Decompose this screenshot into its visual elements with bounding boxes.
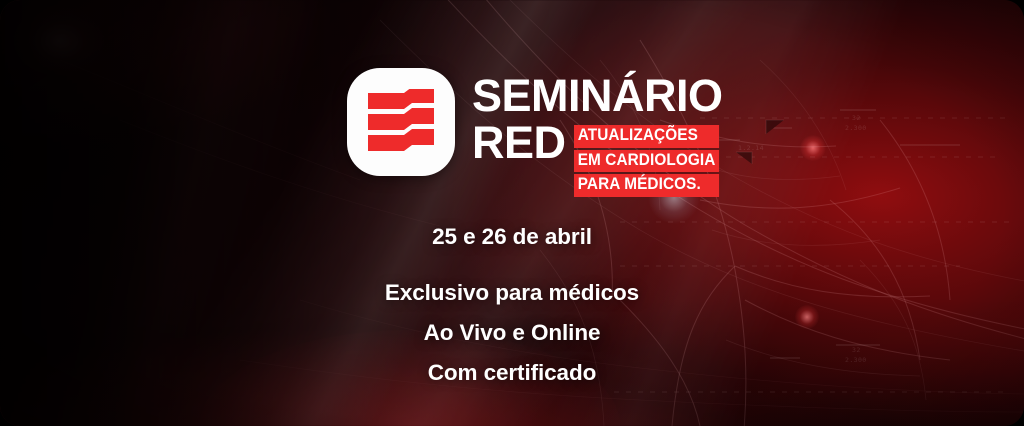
highlight-certificado: Com certificado <box>0 360 1024 386</box>
event-highlights: Exclusivo para médicos Ao Vivo e Online … <box>0 280 1024 386</box>
tagline-line-1: ATUALIZAÇÕES <box>574 125 719 147</box>
banner-content: SEMINÁRIO RED ATUALIZAÇÕES EM CARDIOLOGI… <box>0 0 1024 426</box>
highlight-ao-vivo: Ao Vivo e Online <box>0 320 1024 346</box>
seminario-red-event-banner: 32 2.300 1.2.14 32 2.300 <box>0 0 1024 426</box>
logo-lockup: SEMINÁRIO RED ATUALIZAÇÕES EM CARDIOLOGI… <box>347 68 730 197</box>
tagline-line-3: PARA MÉDICOS. <box>574 174 719 196</box>
wordmark: SEMINÁRIO RED ATUALIZAÇÕES EM CARDIOLOGI… <box>472 68 730 197</box>
tagline-line-2: EM CARDIOLOGIA <box>574 150 719 172</box>
seminario-red-logo-mark <box>347 68 455 176</box>
event-date: 25 e 26 de abril <box>0 224 1024 250</box>
logo-tagline: ATUALIZAÇÕES EM CARDIOLOGIA PARA MÉDICOS… <box>574 120 730 196</box>
event-info: 25 e 26 de abril Exclusivo para médicos … <box>0 224 1024 386</box>
wordmark-red-row: RED ATUALIZAÇÕES EM CARDIOLOGIA PARA MÉD… <box>472 120 730 196</box>
highlight-exclusivo: Exclusivo para médicos <box>0 280 1024 306</box>
wordmark-red: RED <box>472 120 566 165</box>
wordmark-seminario: SEMINÁRIO <box>472 74 730 117</box>
